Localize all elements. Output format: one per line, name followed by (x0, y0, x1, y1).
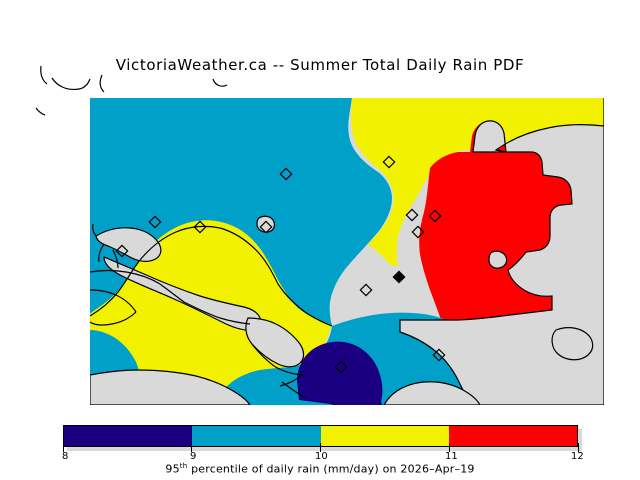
colorbar-panel: 8 9 10 11 12 95th percentile of daily ra… (0, 420, 640, 480)
colorbar-label-10: 10 (315, 451, 328, 462)
colorbar-label-12: 12 (571, 451, 584, 462)
colorbar-segment-9-10 (192, 426, 320, 446)
land-islet-2 (489, 251, 507, 268)
plot-area[interactable] (90, 98, 604, 411)
colorbar-caption: 95th percentile of daily rain (mm/day) o… (0, 462, 640, 476)
colorbar-label-11: 11 (445, 451, 458, 462)
map-panel[interactable] (0, 0, 640, 420)
colorbar-segment-8-9 (64, 426, 192, 446)
caption-percentile-number: 95 (165, 463, 179, 476)
colorbar-segment-10-11 (321, 426, 449, 446)
colorbar-label-8: 8 (62, 451, 68, 462)
land-islet-1 (257, 216, 274, 232)
contour-map-svg[interactable] (0, 0, 640, 420)
caption-rest: percentile of daily rain (mm/day) on 202… (187, 463, 474, 476)
colorbar-segment-11-12 (449, 426, 577, 446)
colorbar-label-9: 9 (190, 451, 196, 462)
weather-map-page: VictoriaWeather.ca -- Summer Total Daily… (0, 0, 640, 480)
